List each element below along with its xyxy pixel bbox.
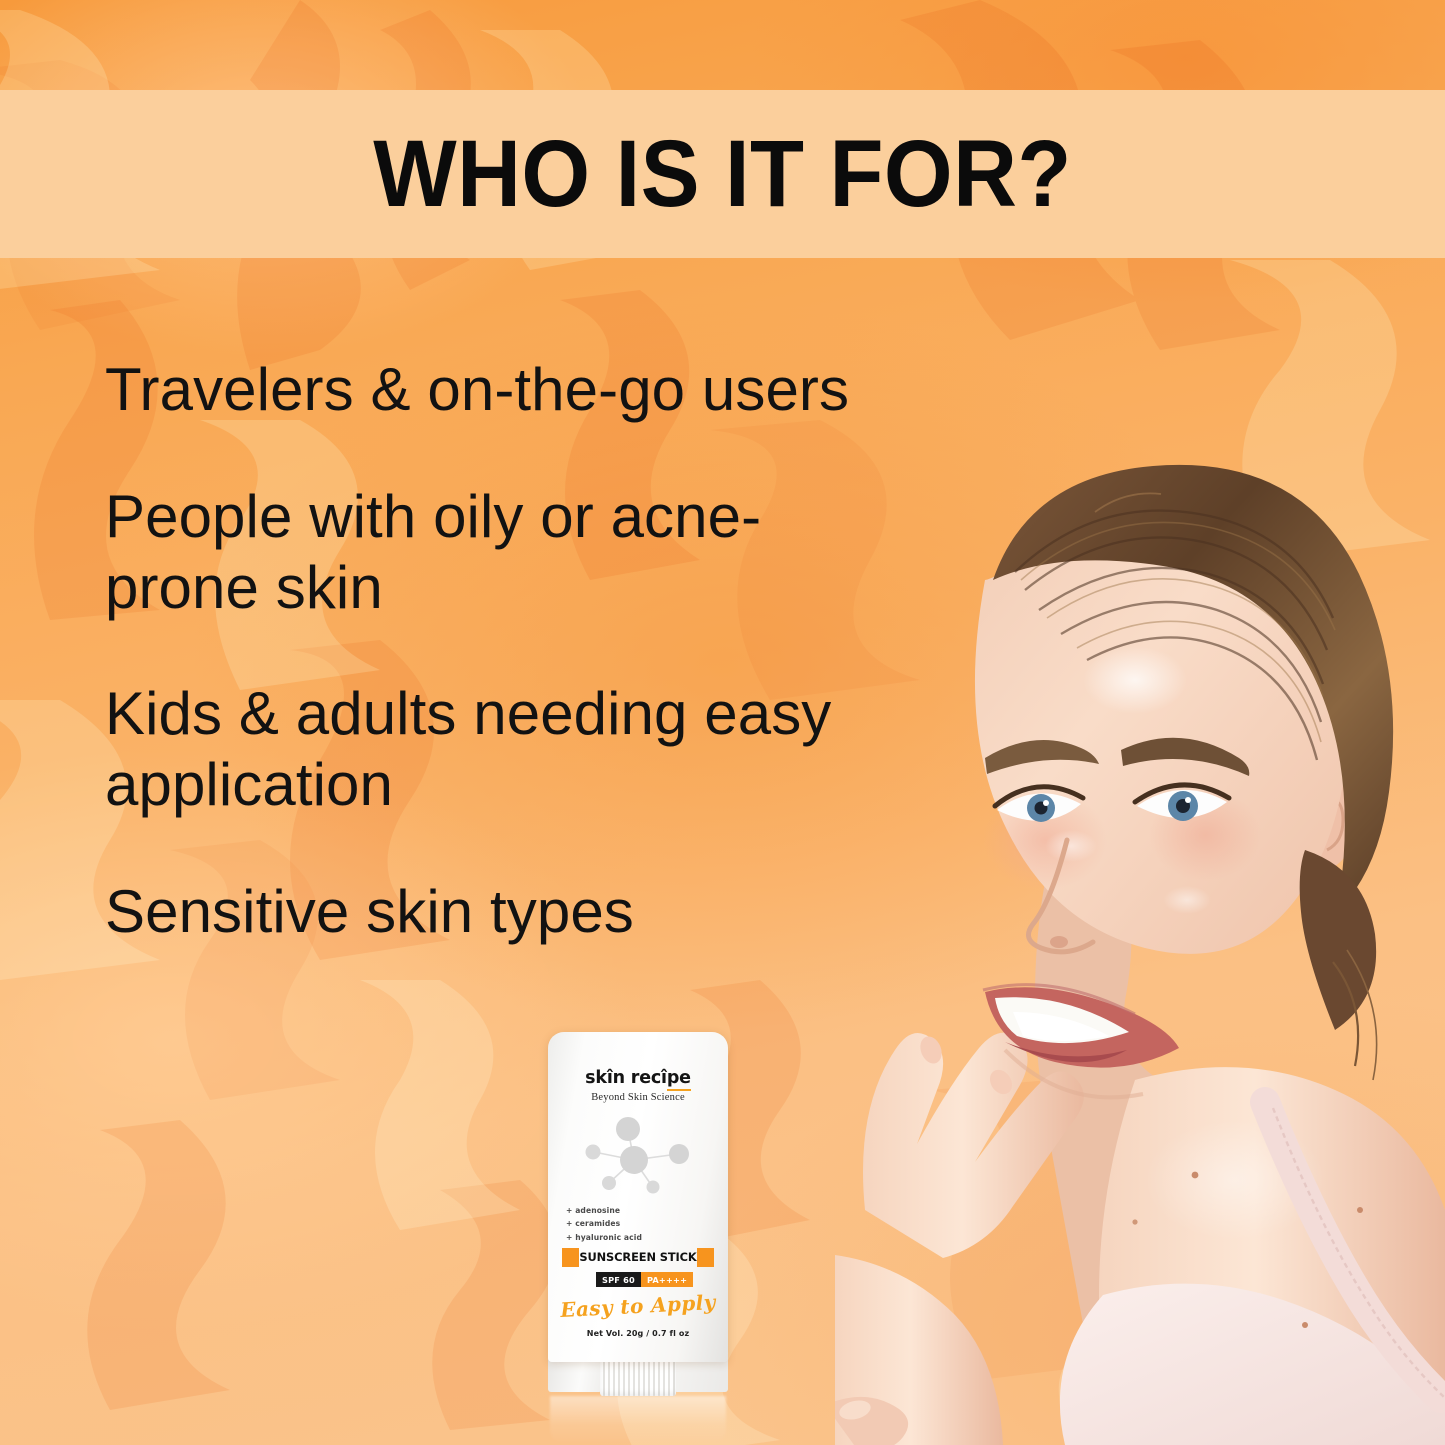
benefit-item-travelers: Travelers & on-the-go users: [105, 355, 865, 426]
stick-body: skîn recîpe Beyond Skin Science: [548, 1032, 728, 1362]
spf-badge: SPF 60: [596, 1272, 641, 1287]
spf-pa-badges: SPF 60 PA++++: [596, 1272, 693, 1287]
header-banner: WHO IS IT FOR?: [0, 90, 1445, 258]
product-name-row: SUNSCREEN STICK: [562, 1247, 714, 1267]
ingredient-ceramides: + ceramides: [566, 1217, 716, 1230]
brand-name-middle: în recî: [607, 1068, 667, 1088]
model-photo: [835, 250, 1445, 1445]
benefit-item-kids-adults: Kids & adults needing easy application: [105, 679, 865, 821]
stick-base-left: [548, 1358, 602, 1392]
molecule-icon: [570, 1116, 706, 1198]
benefits-list: Travelers & on-the-go users People with …: [105, 355, 865, 948]
page-title: WHO IS IT FOR?: [373, 127, 1072, 222]
ingredient-adenosine: + adenosine: [566, 1204, 716, 1217]
accent-square-right: [697, 1248, 714, 1267]
benefit-item-sensitive: Sensitive skin types: [105, 877, 865, 948]
benefit-item-oily-acne: People with oily or acne-prone skin: [105, 482, 865, 624]
brand-name-underlined: pe: [667, 1068, 691, 1091]
brand-name-text: sk: [585, 1068, 607, 1088]
net-volume-text: Net Vol. 20g / 0.7 fl oz: [548, 1329, 728, 1338]
product-name: SUNSCREEN STICK: [579, 1250, 696, 1264]
poster-canvas: WHO IS IT FOR? Travelers & on-the-go use…: [0, 0, 1445, 1445]
brand-tagline: Beyond Skin Science: [548, 1092, 728, 1103]
stick-base-right: [674, 1358, 728, 1392]
ingredient-hyaluronic-acid: + hyaluronic acid: [566, 1231, 716, 1244]
brand-logo: skîn recîpe: [548, 1068, 728, 1088]
stick-dial-knob: [600, 1358, 676, 1396]
product-sunscreen-stick: skîn recîpe Beyond Skin Science: [548, 1032, 728, 1445]
stick-reflection: [550, 1396, 726, 1444]
easy-to-apply-script: Easy to Apply: [547, 1289, 728, 1322]
accent-square-left: [562, 1248, 579, 1267]
pa-badge: PA++++: [641, 1272, 693, 1287]
ingredients-list: + adenosine + ceramides + hyaluronic aci…: [566, 1204, 716, 1244]
